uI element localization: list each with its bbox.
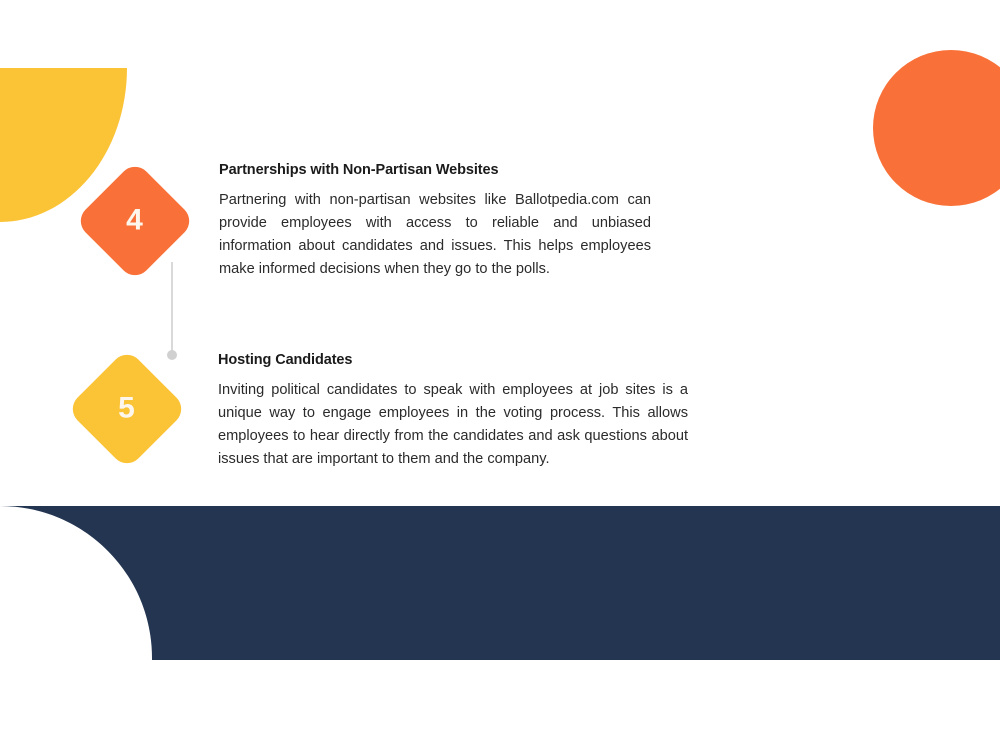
step-title-4: Partnerships with Non-Partisan Websites [219, 162, 651, 179]
navy-curved-band-decoration [0, 506, 1000, 660]
step-badge-5[interactable]: 5 [66, 348, 188, 470]
step-number-5: 5 [118, 394, 135, 424]
slide-canvas: 4 Partnerships with Non-Partisan Website… [0, 0, 1000, 750]
orange-circle-decoration [873, 50, 1000, 206]
step-badge-4[interactable]: 4 [74, 160, 196, 282]
step-content-4: Partnerships with Non-Partisan Websites … [219, 162, 651, 280]
connector-line [171, 262, 173, 354]
step-body-5: Inviting political candidates to speak w… [218, 379, 688, 470]
step-content-5: Hosting Candidates Inviting political ca… [218, 352, 688, 470]
step-number-4: 4 [126, 206, 143, 236]
step-title-5: Hosting Candidates [218, 352, 688, 369]
step-body-4: Partnering with non-partisan websites li… [219, 189, 651, 280]
connector-end-dot-icon [167, 350, 177, 360]
